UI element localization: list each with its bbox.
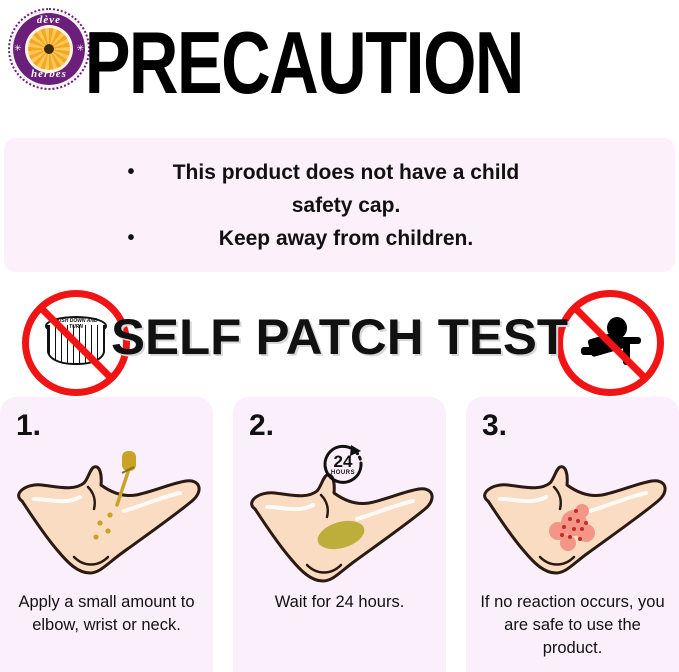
logo-star-right-icon: ✳ <box>76 44 84 53</box>
step-card-2: 2. 24 HOURS Wait for 24 hours. <box>233 397 446 672</box>
badge-unit: HOURS <box>317 470 369 476</box>
bullet-marker: • <box>122 156 140 189</box>
step-caption: If no reaction occurs, you are safe to u… <box>474 591 671 660</box>
24-hours-badge-icon: 24 HOURS <box>317 439 369 491</box>
section-title-self-patch-test: SELF PATCH TEST <box>0 302 679 372</box>
warning-bullet-item: • This product does not have a child saf… <box>122 156 552 222</box>
step-illustration-elbow-rash <box>466 439 679 589</box>
logo-bottom-text: herbes <box>8 68 90 80</box>
warning-bullet-list: • This product does not have a child saf… <box>122 156 552 255</box>
elbow-arm-icon <box>470 439 675 589</box>
step-card-1: 1. Apply a small amount to elbow, wrist <box>0 397 213 672</box>
step-number: 2. <box>249 409 274 443</box>
step-illustration-elbow-dropper <box>0 439 213 589</box>
step-card-3: 3. <box>466 397 679 672</box>
step-number: 1. <box>16 409 41 443</box>
warning-bullet-item: • Keep away from children. <box>122 222 552 255</box>
step-caption: Wait for 24 hours. <box>241 591 438 614</box>
logo-star-left-icon: ✳ <box>14 44 22 53</box>
warning-bullet-text: Keep away from children. <box>140 222 552 255</box>
page-title: PRECAUTION <box>140 8 468 118</box>
badge-number: 24 <box>317 453 369 470</box>
steps-container: 1. Apply a small amount to elbow, wrist <box>0 397 679 672</box>
step-caption: Apply a small amount to elbow, wrist or … <box>8 591 205 637</box>
step-illustration-elbow-oil: 24 HOURS <box>233 439 446 589</box>
logo-top-text: dève <box>8 14 90 26</box>
bullet-marker: • <box>122 222 140 255</box>
brand-logo: dève herbes ✳ ✳ <box>8 8 90 90</box>
elbow-arm-icon <box>4 439 209 589</box>
warning-bullet-text: This product does not have a child safet… <box>140 156 552 222</box>
marigold-flower-icon <box>28 28 70 70</box>
warning-panel: PUSH DOWN AND TURN • This product does n… <box>4 138 675 272</box>
page-header: dève herbes ✳ ✳ PRECAUTION <box>0 0 679 132</box>
step-number: 3. <box>482 409 507 443</box>
